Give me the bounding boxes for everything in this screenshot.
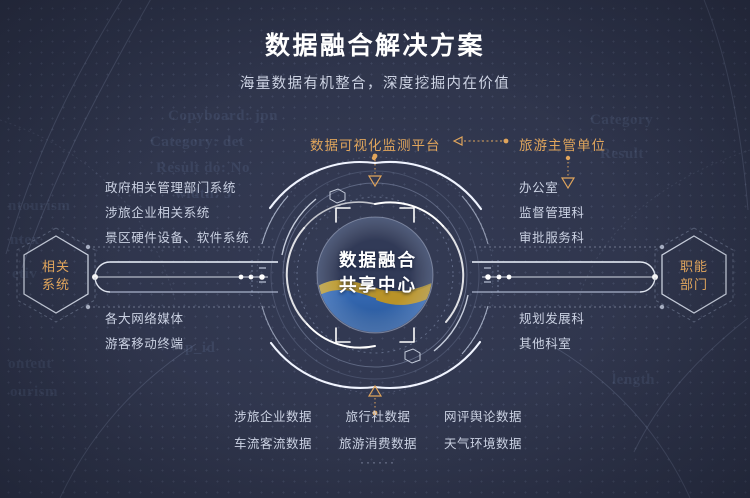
hexagon-right-label[interactable]: 职能 部门	[662, 258, 726, 294]
source-item[interactable]: 规划发展科	[519, 307, 585, 332]
bottom-data-grid: 涉旅企业数据旅行社数据网评舆论数据车流客流数据旅游消费数据天气环境数据	[228, 406, 528, 460]
source-item[interactable]: 涉旅企业相关系统	[105, 201, 249, 226]
hexagon-left-line2: 系统	[24, 276, 88, 294]
bottom-data-item[interactable]: 车流客流数据	[228, 433, 318, 452]
bottom-data-item[interactable]: 天气环境数据	[438, 433, 528, 452]
source-item[interactable]: 监督管理科	[519, 201, 585, 226]
hexagon-left-line1: 相关	[24, 258, 88, 276]
bottom-data-item[interactable]: 网评舆论数据	[438, 406, 528, 425]
header-label-visualization-platform[interactable]: 数据可视化监测平台	[310, 134, 441, 154]
bottom-data-row: 涉旅企业数据旅行社数据网评舆论数据	[228, 406, 528, 425]
bottom-data-item[interactable]: 涉旅企业数据	[228, 406, 318, 425]
infographic-stage: Copyboard: jpnCategory: detResult do: No…	[0, 0, 750, 498]
header-arrow	[454, 137, 508, 145]
page-subtitle: 海量数据有机整合，深度挖掘内在价值	[0, 72, 750, 93]
header-label-tourism-authority[interactable]: 旅游主管单位	[519, 134, 606, 154]
column-right-top: 办公室监督管理科审批服务科	[519, 176, 585, 251]
source-item[interactable]: 游客移动终端	[105, 332, 184, 357]
right-connector-pipe	[472, 245, 664, 309]
hexagon-right-line2: 部门	[662, 276, 726, 294]
header-drop-line-left	[372, 156, 376, 160]
column-left-bottom: 各大网络媒体游客移动终端	[105, 307, 184, 357]
page-title: 数据融合解决方案	[0, 26, 750, 62]
source-item[interactable]: 政府相关管理部门系统	[105, 176, 249, 201]
source-item[interactable]: 景区硬件设备、软件系统	[105, 226, 249, 251]
bottom-data-item[interactable]: 旅行社数据	[333, 406, 423, 425]
left-connector-pipe	[86, 245, 278, 309]
bottom-data-item[interactable]: 旅游消费数据	[333, 433, 423, 452]
bottom-ellipsis: ······	[228, 455, 528, 469]
core-label-line1: 数据融合	[308, 248, 448, 273]
source-item[interactable]: 各大网络媒体	[105, 307, 184, 332]
hexagon-left-label[interactable]: 相关 系统	[24, 258, 88, 294]
column-right-bottom: 规划发展科其他科室	[519, 307, 585, 357]
bottom-data-row: 车流客流数据旅游消费数据天气环境数据	[228, 433, 528, 452]
source-item[interactable]: 办公室	[519, 176, 585, 201]
core-label[interactable]: 数据融合 共享中心	[308, 248, 448, 298]
source-item[interactable]: 审批服务科	[519, 226, 585, 251]
core-label-line2: 共享中心	[308, 273, 448, 298]
hexagon-right-line1: 职能	[662, 258, 726, 276]
column-left-top: 政府相关管理部门系统涉旅企业相关系统景区硬件设备、软件系统	[105, 176, 249, 251]
source-item[interactable]: 其他科室	[519, 332, 585, 357]
